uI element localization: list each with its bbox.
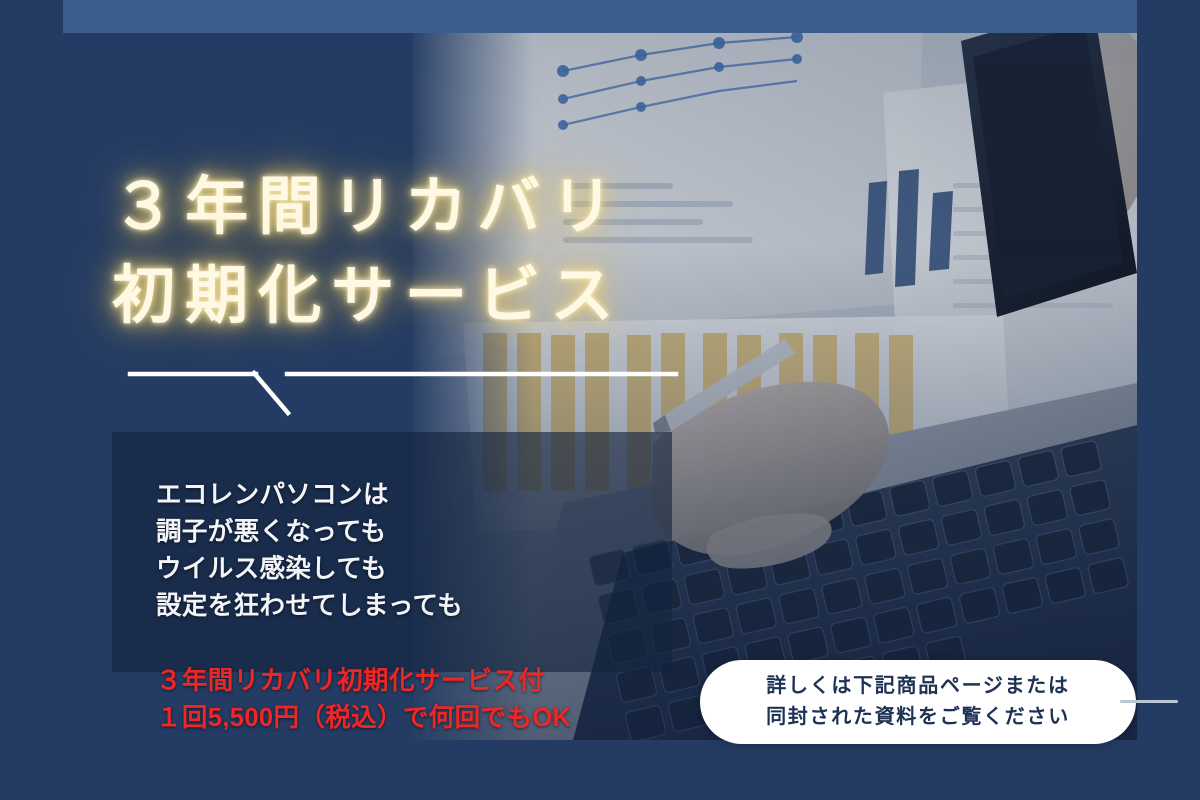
body-red-text: ３年間リカバリ初期化サービス付 １回5,500円（税込）で何回でもOK xyxy=(156,667,571,732)
callout-pill[interactable]: 詳しくは下記商品ページまたは 同封された資料をご覧ください xyxy=(700,660,1136,744)
callout-tail-line xyxy=(1120,700,1178,703)
top-accent-band xyxy=(63,0,1137,33)
body-text-block: エコレンパソコンは 調子が悪くなっても ウイルス感染しても 設定を狂わせてしまっ… xyxy=(156,440,696,737)
callout-text: 詳しくは下記商品ページまたは 同封された資料をご覧ください xyxy=(766,671,1070,733)
promo-banner: ３年間リカバリ 初期化サービス エコレンパソコンは 調子が悪くなっても ウイルス… xyxy=(0,0,1200,800)
body-white-text: エコレンパソコンは 調子が悪くなっても ウイルス感染しても 設定を狂わせてしまっ… xyxy=(156,481,463,620)
page-title: ３年間リカバリ 初期化サービス xyxy=(112,163,892,342)
